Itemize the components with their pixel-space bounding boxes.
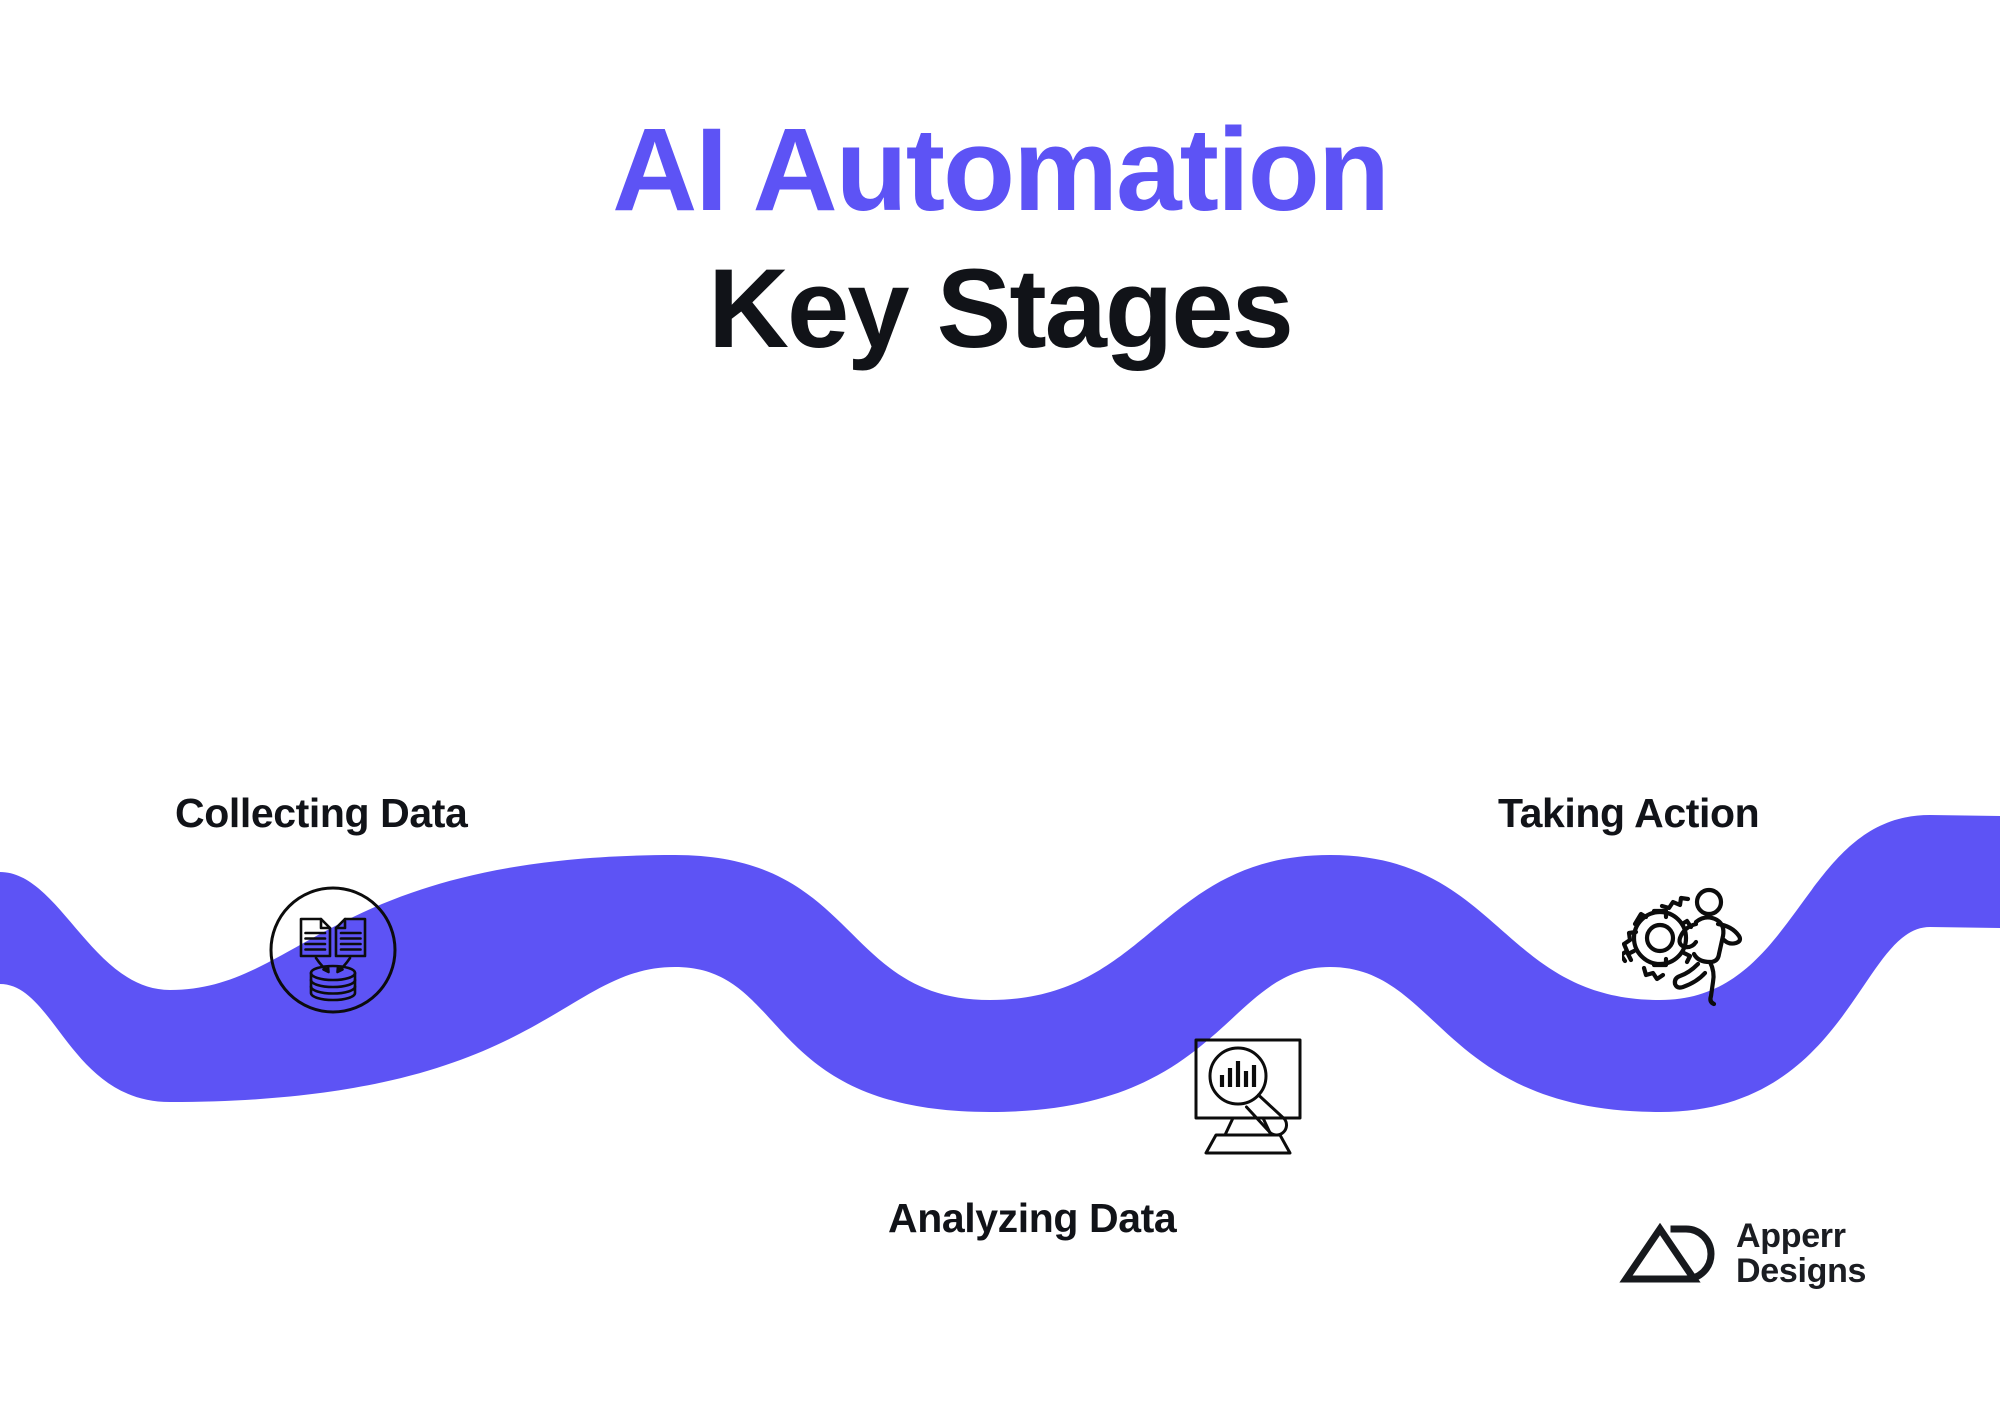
ad-monogram-logo-icon (1618, 1223, 1722, 1285)
stage-label-collecting-data: Collecting Data (175, 790, 467, 837)
running-person-gear-icon (1622, 880, 1750, 1008)
brand-name-line1: Apperr (1736, 1219, 1866, 1254)
page-title: AI Automation (0, 110, 2000, 230)
poster-canvas: AI Automation Key Stages Collecting Data (0, 0, 2000, 1414)
stage-label-taking-action: Taking Action (1498, 790, 1759, 837)
page-subtitle: Key Stages (0, 252, 2000, 366)
monitor-chart-magnifier-icon (1186, 1035, 1326, 1163)
brand-name: Apperr Designs (1736, 1219, 1866, 1290)
brand-name-line2: Designs (1736, 1254, 1866, 1289)
title-block: AI Automation Key Stages (0, 110, 2000, 367)
brand-logo: Apperr Designs (1618, 1208, 1886, 1300)
stage-label-analyzing-data: Analyzing Data (888, 1195, 1176, 1242)
documents-to-database-icon (268, 885, 398, 1015)
